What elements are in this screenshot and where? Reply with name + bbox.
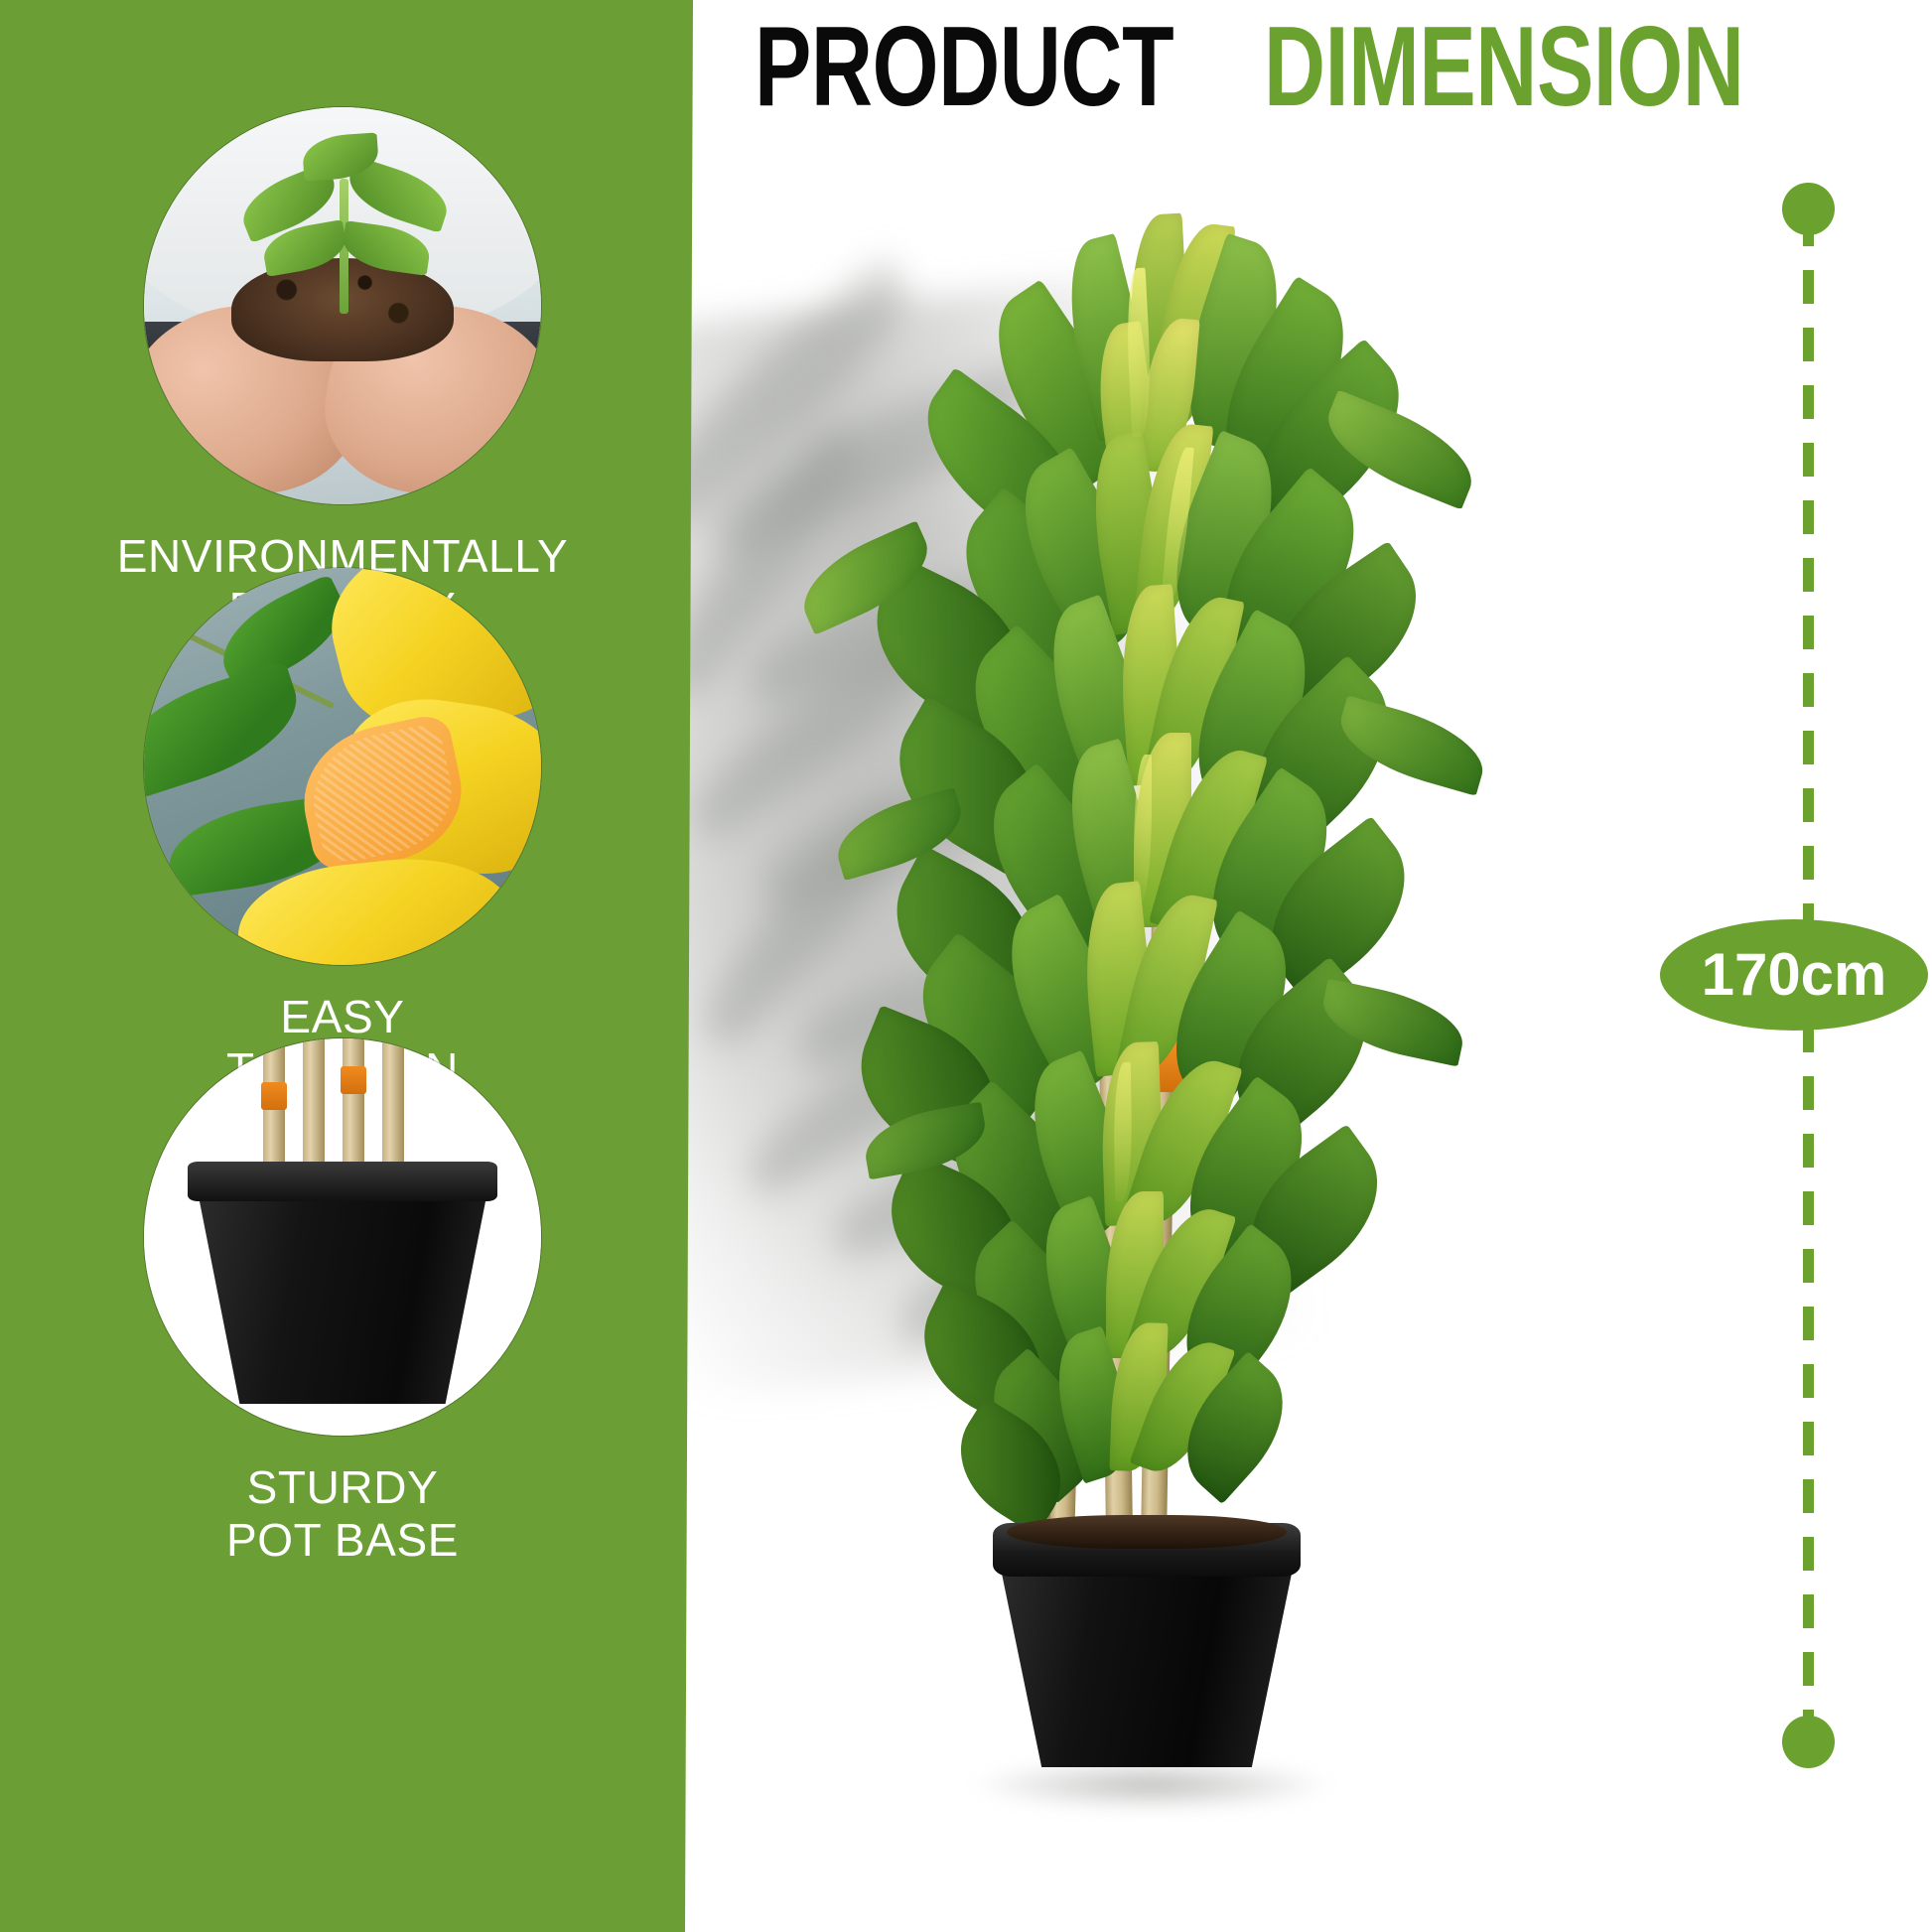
feature-sturdy-pot-base: STURDY POT BASE: [0, 1038, 685, 1568]
infographic-canvas: PRODUCT DIMENSION ENV: [0, 0, 1932, 1932]
product-image-stage: [685, 119, 1638, 1906]
plant-pot: [983, 1509, 1311, 1837]
dimension-ruler: 170cm: [1767, 159, 1926, 1807]
sturdy-pot-base-icon: [144, 1038, 541, 1436]
page-title: PRODUCT DIMENSION: [755, 10, 1896, 119]
feature-easy-to-clean: EASY TO CLEAN: [0, 568, 685, 1097]
page-title-word-product: PRODUCT: [755, 10, 1173, 123]
dimension-endpoint-bottom-icon: [1782, 1716, 1835, 1768]
dimension-height-label: 170cm: [1702, 945, 1887, 1005]
easy-to-clean-icon: [144, 568, 541, 965]
pot-soil: [1007, 1515, 1287, 1549]
pot-body: [1001, 1569, 1293, 1767]
feature-environmentally-friendly: ENVIRONMENTALLY FRIENDLY: [0, 107, 685, 636]
dimension-height-badge: 170cm: [1660, 919, 1928, 1031]
environmentally-friendly-icon: [144, 107, 541, 504]
feature-label: STURDY POT BASE: [0, 1461, 685, 1568]
page-title-word-dimension: DIMENSION: [1264, 10, 1743, 123]
feature-sidebar: ENVIRONMENTALLY FRIENDLY EASY TO CLEAN: [0, 0, 695, 1932]
dimension-endpoint-top-icon: [1782, 183, 1835, 235]
